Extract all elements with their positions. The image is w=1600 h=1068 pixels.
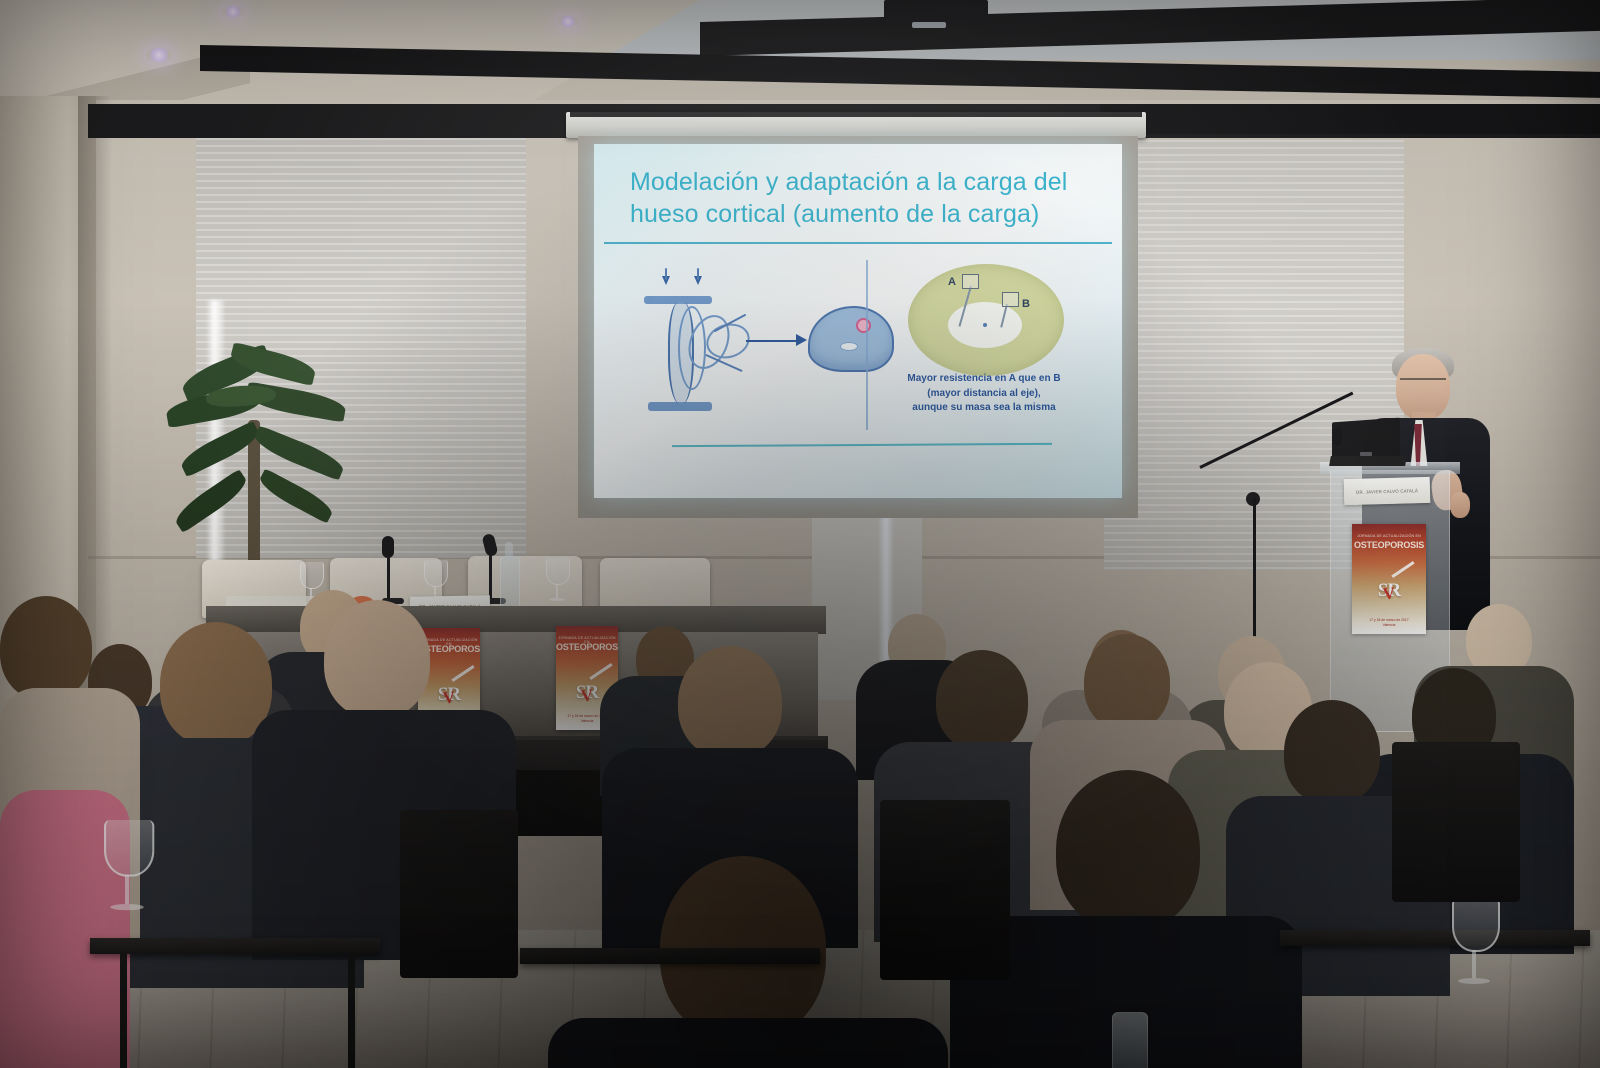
table-leg xyxy=(120,952,127,1068)
projection-screen: Modelación y adaptación a la carga del h… xyxy=(594,144,1122,498)
transform-arrow-shaft xyxy=(746,340,798,342)
annulus-label-b: B xyxy=(1022,298,1030,310)
lectern-name-card-text: DR. JAVIER CALVO CATALÁ xyxy=(1344,488,1430,495)
projector-icon xyxy=(884,0,988,24)
audience-head xyxy=(324,600,430,718)
annulus-resistance-diagram: A B xyxy=(886,256,1082,386)
audience-table xyxy=(1280,930,1590,946)
slide-title-rule xyxy=(604,242,1112,244)
banner-logo-accent: V xyxy=(580,685,594,706)
water-bottle-icon xyxy=(1112,1012,1148,1068)
spotlight-icon xyxy=(222,6,244,17)
slide-title-line-1: Modelación y adaptación a la carga del xyxy=(630,166,1098,198)
conference-room-photo: Modelación y adaptación a la carga del h… xyxy=(0,0,1600,1068)
lectern-name-card: DR. JAVIER CALVO CATALÁ xyxy=(1344,477,1431,505)
audience-head xyxy=(160,622,272,746)
laptop-keyboard[interactable] xyxy=(1329,456,1407,466)
dark-wall-band xyxy=(1100,104,1600,134)
medullary-canal xyxy=(840,342,858,351)
panel-table xyxy=(206,606,826,634)
table-leg xyxy=(348,952,355,1068)
slide-vertical-divider xyxy=(866,260,868,430)
potted-plant-icon xyxy=(160,350,360,580)
audience-head xyxy=(936,650,1028,750)
banner-title: OSTEOPOROSIS xyxy=(1352,540,1426,550)
audience-table xyxy=(520,948,820,964)
slide-title: Modelación y adaptación a la carga del h… xyxy=(630,166,1098,230)
audience-head xyxy=(1084,634,1170,730)
audience-chair xyxy=(400,810,518,978)
slide-caption-line-2: (mayor distancia al eje), xyxy=(878,387,1090,402)
audience-head xyxy=(678,646,782,758)
banner-title: OSTEOPOROSIS xyxy=(556,642,618,652)
spotlight-icon xyxy=(146,48,172,62)
projection-screen-housing-top xyxy=(570,112,1142,117)
banner-logo-accent: V xyxy=(442,687,456,708)
bone-loading-diagram xyxy=(618,262,862,422)
spotlight-icon xyxy=(558,16,578,27)
slide-caption-line-3: aunque su masa sea la misma xyxy=(878,401,1090,416)
load-stem xyxy=(665,268,667,280)
banner-date: 17 y 18 de marzo de 2017 Valencia xyxy=(1352,618,1426,628)
audience-head xyxy=(0,596,92,700)
slide-title-line-2: hueso cortical (aumento de la carga) xyxy=(630,198,1098,230)
projector-lens xyxy=(912,22,946,28)
element-square-b xyxy=(1002,292,1019,307)
banner-stripe xyxy=(590,663,613,680)
load-stem xyxy=(697,268,699,280)
cortical-cross-section xyxy=(808,306,894,372)
element-square-a xyxy=(962,274,979,289)
banner-date-line-2: Valencia xyxy=(1352,623,1426,628)
banner-stripe xyxy=(452,665,475,682)
transform-arrow-head xyxy=(796,334,807,346)
audience-body xyxy=(548,1018,948,1068)
annulus-axis-point xyxy=(983,323,987,327)
banner-stripe xyxy=(1392,561,1415,578)
eyeglasses-icon xyxy=(1400,378,1446,389)
audience-chair xyxy=(1392,742,1520,902)
microphone-icon xyxy=(1333,428,1342,446)
audience-head xyxy=(1284,700,1380,804)
audience-table xyxy=(90,938,380,954)
slide-caption: Mayor resistencia en A que en B (mayor d… xyxy=(878,372,1090,416)
audience-chair xyxy=(880,800,1010,980)
speaker-hand xyxy=(1450,492,1470,518)
annulus-label-a: A xyxy=(948,276,956,288)
event-banner: JORNADA DE ACTUALIZACIÓN EN OSTEOPOROSIS… xyxy=(1352,524,1426,634)
audience-head xyxy=(1056,770,1200,930)
banner-eyebrow: JORNADA DE ACTUALIZACIÓN EN xyxy=(1352,534,1426,538)
bone-marker-dot xyxy=(856,318,871,333)
banner-logo-accent: V xyxy=(1382,583,1396,604)
muscle-outline xyxy=(678,306,706,390)
slide-caption-line-1: Mayor resistencia en A que en B xyxy=(878,372,1090,387)
